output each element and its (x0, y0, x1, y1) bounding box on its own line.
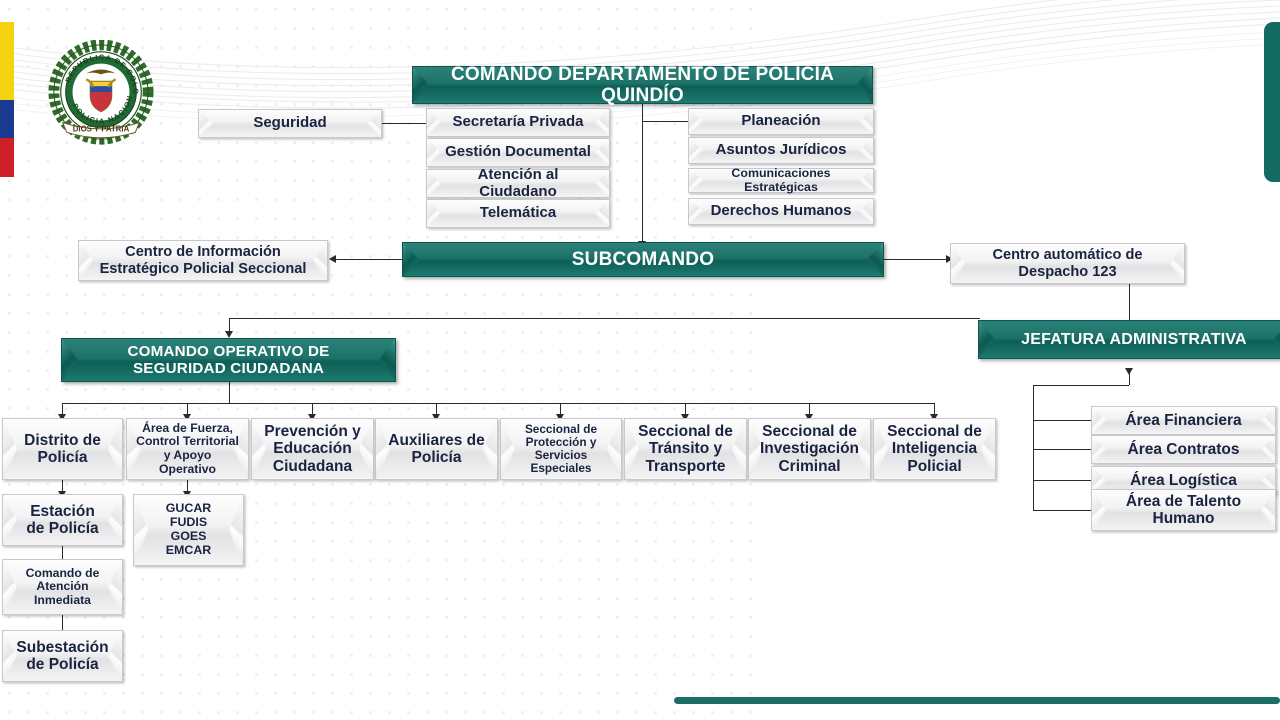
node-subestacion-policia[interactable]: Subestación de Policía (2, 630, 123, 682)
node-seccional-inteligencia-label: Seccional de Inteligencia Policial (882, 423, 987, 475)
connector-areas-spine (1033, 385, 1034, 510)
node-comando-operativo-label: COMANDO OPERATIVO DE SEGURIDAD CIUDADANA (80, 343, 377, 377)
arrow-operative (225, 331, 233, 338)
node-estacion-policia[interactable]: Estación de Policía (2, 494, 123, 546)
connector-operative-bus (62, 403, 935, 404)
node-auxiliares-policia-label: Auxiliares de Policía (384, 432, 489, 467)
node-planeacion[interactable]: Planeación (688, 108, 874, 135)
node-despacho-123-label: Centro automático de Despacho 123 (969, 247, 1166, 280)
node-derechos-humanos[interactable]: Derechos Humanos (688, 198, 874, 225)
node-area-talento-humano-label: Área de Talento Humano (1110, 493, 1257, 528)
node-area-contratos[interactable]: Área Contratos (1091, 435, 1276, 464)
node-jefatura-administrativa[interactable]: JEFATURA ADMINISTRATIVA (978, 320, 1280, 359)
connector-operative-bus-drop (229, 382, 230, 403)
connector-subcomando-dispatch (883, 259, 947, 260)
connector-area-4 (1033, 510, 1095, 511)
connector-command-subcomando (642, 103, 643, 243)
node-area-logistica-label: Área Logística (1130, 472, 1237, 489)
node-telematica[interactable]: Telemática (426, 199, 610, 228)
node-centro-informacion-label: Centro de Información Estratégico Polici… (97, 244, 309, 277)
node-prevencion-educacion[interactable]: Prevención y Educación Ciudadana (251, 418, 374, 480)
node-comando-atencion-inmediata-label: Comando de Atención Inmediata (11, 567, 114, 608)
node-atencion-ciudadano-label: Atención al Ciudadano (445, 167, 591, 201)
node-subestacion-policia-label: Subestación de Policía (7, 639, 118, 674)
node-unidades-gucar-fudis-goes-emcar[interactable]: GUCAR FUDIS GOES EMCAR (133, 494, 244, 566)
arrow-subcomando-info (329, 255, 336, 263)
arrow-jefatura-areas (1125, 368, 1133, 375)
connector-estacion-cai (62, 545, 63, 560)
node-seccional-investigacion[interactable]: Seccional de Investigación Criminal (748, 418, 871, 480)
node-subcomando[interactable]: SUBCOMANDO (402, 242, 884, 277)
node-seguridad-label: Seguridad (253, 115, 326, 132)
bottom-accent-bar (674, 697, 1280, 704)
node-area-financiera[interactable]: Área Financiera (1091, 406, 1276, 435)
node-auxiliares-policia[interactable]: Auxiliares de Policía (375, 418, 498, 480)
connector-area-1 (1033, 420, 1095, 421)
node-asuntos-juridicos-label: Asuntos Jurídicos (716, 142, 847, 159)
node-estacion-policia-label: Estación de Policía (21, 503, 104, 538)
node-seccional-investigacion-label: Seccional de Investigación Criminal (755, 423, 864, 475)
node-despacho-123[interactable]: Centro automático de Despacho 123 (950, 243, 1185, 284)
node-subcomando-label: SUBCOMANDO (572, 249, 714, 270)
node-gestion-documental-label: Gestión Documental (445, 144, 591, 161)
connector-staff-right (642, 121, 688, 122)
node-area-contratos-label: Área Contratos (1128, 441, 1240, 458)
node-atencion-ciudadano[interactable]: Atención al Ciudadano (426, 169, 610, 198)
node-seccional-inteligencia[interactable]: Seccional de Inteligencia Policial (873, 418, 996, 480)
node-seguridad[interactable]: Seguridad (198, 109, 382, 138)
node-seccional-transito-label: Seccional de Tránsito y Transporte (633, 423, 738, 475)
connector-seguridad (382, 123, 428, 124)
connector-area-3 (1033, 480, 1095, 481)
node-unidades-label: GUCAR FUDIS GOES EMCAR (166, 502, 211, 558)
policia-nacional-crest-icon: REPUBLICA DE COLOMBIA POLICIA NACIONAL D… (47, 40, 155, 148)
svg-text:DIOS Y PATRIA: DIOS Y PATRIA (73, 124, 130, 133)
node-seccional-transito[interactable]: Seccional de Tránsito y Transporte (624, 418, 747, 480)
node-comunicaciones-estrategicas[interactable]: Comunicaciones Estratégicas (688, 168, 874, 193)
node-centro-informacion[interactable]: Centro de Información Estratégico Polici… (78, 240, 328, 281)
node-distrito-policia[interactable]: Distrito de Policía (2, 418, 123, 480)
connector-jefatura-operative (229, 318, 980, 319)
node-area-financiera-label: Área Financiera (1125, 412, 1241, 429)
organizational-chart-slide: REPUBLICA DE COLOMBIA POLICIA NACIONAL D… (0, 0, 1280, 720)
connector-subcomando-info (336, 259, 404, 260)
connector-cai-subestacion (62, 614, 63, 631)
colombia-flag-stripe (0, 22, 14, 177)
node-telematica-label: Telemática (480, 205, 556, 222)
node-planeacion-label: Planeación (741, 113, 820, 130)
node-command-label: COMANDO DEPARTAMENTO DE POLICÍA QUINDÍO (431, 64, 854, 107)
connector-areas-top (1033, 385, 1129, 386)
node-secretaria-privada[interactable]: Secretaría Privada (426, 108, 610, 137)
node-secretaria-privada-label: Secretaría Privada (453, 114, 584, 131)
node-seccional-proteccion[interactable]: Seccional de Protección y Servicios Espe… (500, 418, 622, 480)
right-accent-bar (1264, 22, 1280, 182)
node-comando-atencion-inmediata[interactable]: Comando de Atención Inmediata (2, 559, 123, 615)
node-command[interactable]: COMANDO DEPARTAMENTO DE POLICÍA QUINDÍO (412, 66, 873, 104)
node-area-fuerza[interactable]: Área de Fuerza, Control Territorial y Ap… (126, 418, 249, 480)
node-comunicaciones-estrategicas-label: Comunicaciones Estratégicas (701, 167, 861, 195)
connector-dispatch-jefatura (1129, 279, 1130, 321)
node-comando-operativo[interactable]: COMANDO OPERATIVO DE SEGURIDAD CIUDADANA (61, 338, 396, 382)
node-seccional-proteccion-label: Seccional de Protección y Servicios Espe… (507, 423, 615, 476)
node-jefatura-administrativa-label: JEFATURA ADMINISTRATIVA (1021, 331, 1247, 349)
node-asuntos-juridicos[interactable]: Asuntos Jurídicos (688, 137, 874, 164)
node-derechos-humanos-label: Derechos Humanos (711, 203, 852, 220)
node-area-fuerza-label: Área de Fuerza, Control Territorial y Ap… (136, 422, 239, 477)
connector-area-2 (1033, 449, 1095, 450)
node-distrito-policia-label: Distrito de Policía (21, 432, 104, 467)
node-gestion-documental[interactable]: Gestión Documental (426, 138, 610, 167)
node-prevencion-educacion-label: Prevención y Educación Ciudadana (260, 423, 365, 475)
node-area-talento-humano[interactable]: Área de Talento Humano (1091, 489, 1276, 531)
